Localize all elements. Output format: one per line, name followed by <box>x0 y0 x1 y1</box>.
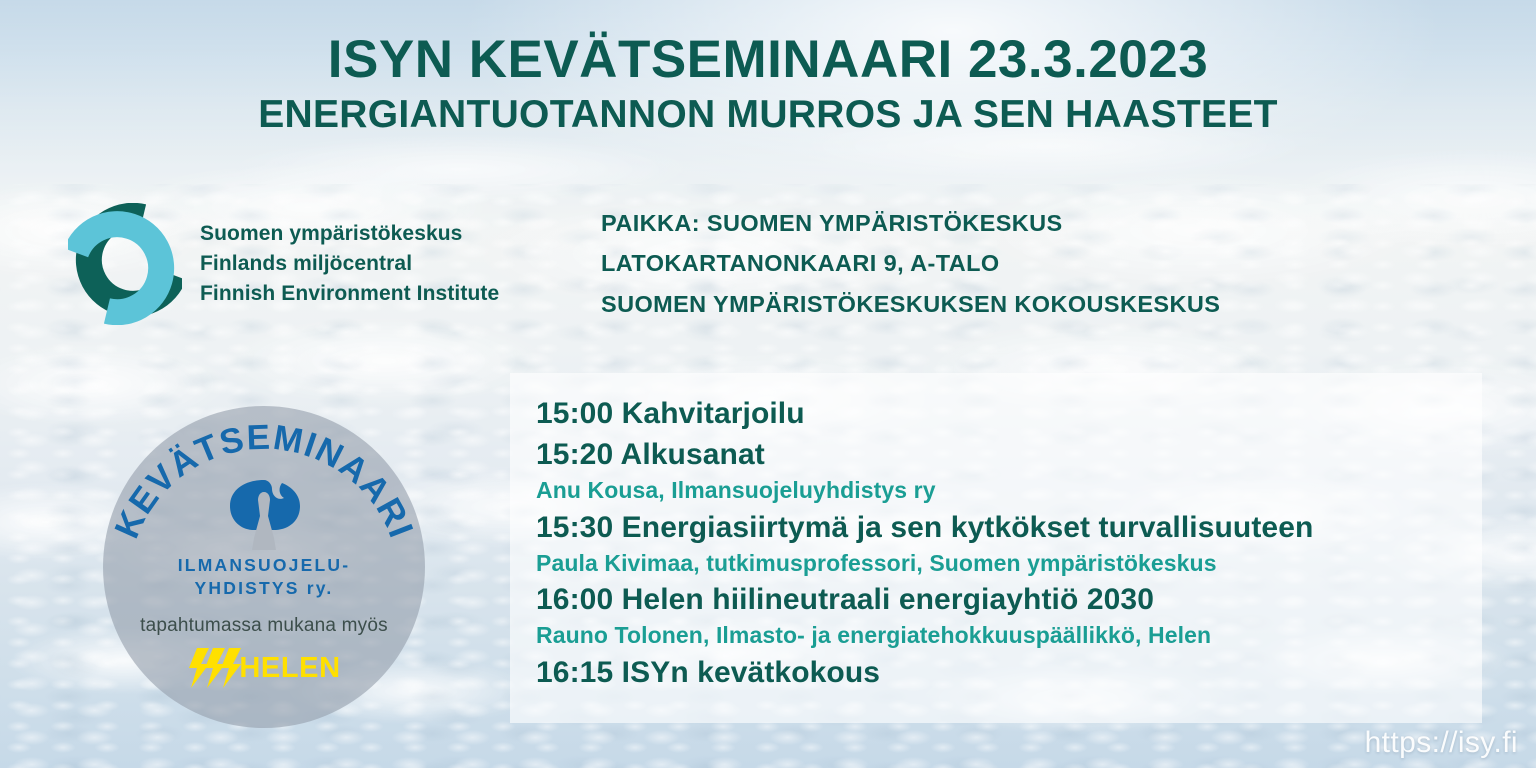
syke-name-fi: Suomen ympäristökeskus <box>200 219 499 249</box>
poster-canvas: ISYN KEVÄTSEMINAARI 23.3.2023 ENERGIANTU… <box>0 0 1536 768</box>
program-item: 15:00 Kahvitarjoilu <box>536 393 1482 434</box>
isy-smokestack-icon <box>222 478 306 552</box>
poster-headline: ISYN KEVÄTSEMINAARI 23.3.2023 ENERGIANTU… <box>0 32 1536 137</box>
program-item: 15:30 Energiasiirtymä ja sen kytkökset t… <box>536 507 1482 580</box>
venue-line-3: SUOMEN YMPÄRISTÖKESKUKSEN KOKOUSKESKUS <box>601 284 1220 324</box>
seminar-badge: KEVÄTSEMINAARI ILMANSUOJELU- YHDISTYS ry… <box>103 406 425 728</box>
program-item: 15:20 Alkusanat Anu Kousa, Ilmansuojeluy… <box>536 434 1482 507</box>
headline-title: ISYN KEVÄTSEMINAARI 23.3.2023 <box>0 32 1536 87</box>
venue-line-2: LATOKARTANONKAARI 9, A-TALO <box>601 243 1220 283</box>
program-title: 16:00 Helen hiilineutraali energiayhtiö … <box>536 579 1482 620</box>
program-item: 16:00 Helen hiilineutraali energiayhtiö … <box>536 579 1482 652</box>
helen-sponsor-logo: HELEN <box>103 648 425 688</box>
program-speaker: Anu Kousa, Ilmansuojeluyhdistys ry <box>536 475 1482 507</box>
venue-block: PAIKKA: SUOMEN YMPÄRISTÖKESKUS LATOKARTA… <box>601 203 1220 324</box>
isy-org-name: ILMANSUOJELU- YHDISTYS ry. <box>103 554 425 600</box>
program-speaker: Rauno Tolonen, Ilmasto- ja energiatehokk… <box>536 620 1482 652</box>
badge-also-text: tapahtumassa mukana myös <box>103 615 425 637</box>
helen-lightning-icon <box>187 648 245 688</box>
website-url[interactable]: https://isy.fi <box>1365 726 1518 760</box>
helen-wordmark: HELEN <box>239 652 340 685</box>
program-title: 15:00 Kahvitarjoilu <box>536 393 1482 434</box>
venue-line-1: PAIKKA: SUOMEN YMPÄRISTÖKESKUS <box>601 203 1220 243</box>
syke-logo-block: Suomen ympäristökeskus Finlands miljöcen… <box>68 203 499 325</box>
isy-org-line-2: YHDISTYS ry. <box>103 577 425 600</box>
program-title: 15:20 Alkusanat <box>536 434 1482 475</box>
syke-name-en: Finnish Environment Institute <box>200 279 499 309</box>
syke-name-block: Suomen ympäristökeskus Finlands miljöcen… <box>200 219 499 308</box>
isy-org-line-1: ILMANSUOJELU- <box>103 554 425 577</box>
headline-subtitle: ENERGIANTUOTANNON MURROS JA SEN HAASTEET <box>0 93 1536 137</box>
program-speaker: Paula Kivimaa, tutkimusprofessori, Suome… <box>536 548 1482 580</box>
program-title: 15:30 Energiasiirtymä ja sen kytkökset t… <box>536 507 1482 548</box>
program-title: 16:15 ISYn kevätkokous <box>536 652 1482 693</box>
syke-name-sv: Finlands miljöcentral <box>200 249 499 279</box>
syke-circle-logo-icon <box>68 203 182 325</box>
program-panel: 15:00 Kahvitarjoilu 15:20 Alkusanat Anu … <box>510 373 1482 723</box>
program-item: 16:15 ISYn kevätkokous <box>536 652 1482 693</box>
